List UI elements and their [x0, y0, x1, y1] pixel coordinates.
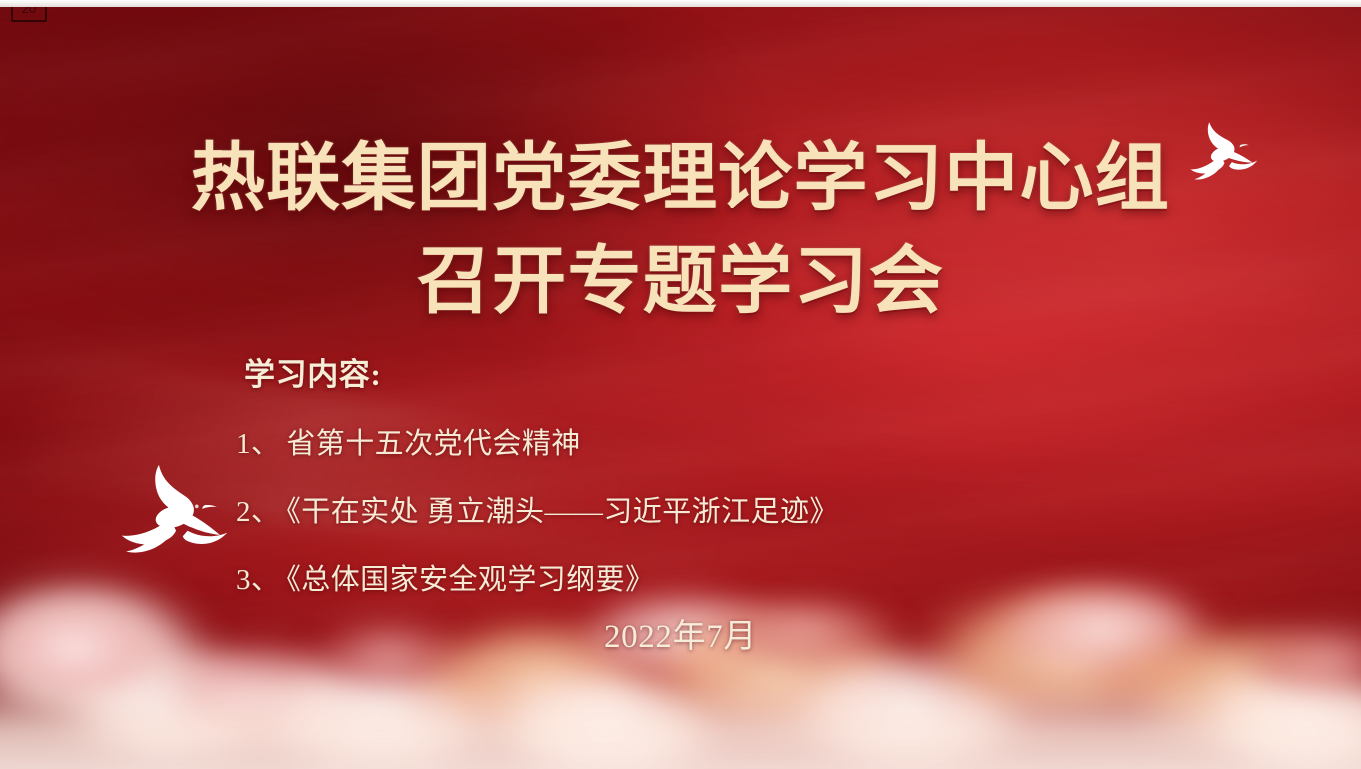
slide-date: 2022年7月: [0, 609, 1361, 657]
list-item-number: 1、: [236, 428, 280, 460]
title-line-2: 召开专题学习会: [0, 238, 1361, 325]
title-line-1: 热联集团党委理论学习中心组: [0, 135, 1361, 222]
list-item-text: 《总体国家安全观学习纲要》: [286, 564, 654, 596]
content-block: 学习内容: 1、省第十五次党代会精神 2、《干在实处 勇立潮头——习近平浙江足迹…: [236, 349, 839, 624]
list-item-text: 省第十五次党代会精神: [286, 428, 580, 460]
dove-icon-large: [112, 455, 234, 559]
list-item-number: 3、: [236, 564, 280, 596]
slide-title: 热联集团党委理论学习中心组 召开专题学习会: [0, 135, 1361, 326]
viewer-top-strip: [0, 0, 1361, 7]
list-item-text: 《干在实处 勇立潮头——习近平浙江足迹》: [286, 496, 838, 528]
list-item: 3、《总体国家安全观学习纲要》: [236, 556, 839, 598]
list-item-number: 2、: [236, 496, 280, 528]
list-item: 2、《干在实处 勇立潮头——习近平浙江足迹》: [236, 488, 839, 530]
presentation-slide: 热联集团党委理论学习中心组 召开专题学习会 学习内容: 1、省第十五次党代会精神…: [0, 7, 1361, 769]
list-item: 1、省第十五次党代会精神: [236, 420, 839, 462]
content-heading: 学习内容:: [244, 349, 839, 394]
study-item-list: 1、省第十五次党代会精神 2、《干在实处 勇立潮头——习近平浙江足迹》 3、《总…: [236, 420, 839, 598]
slide-viewport: 20: [0, 0, 1361, 769]
